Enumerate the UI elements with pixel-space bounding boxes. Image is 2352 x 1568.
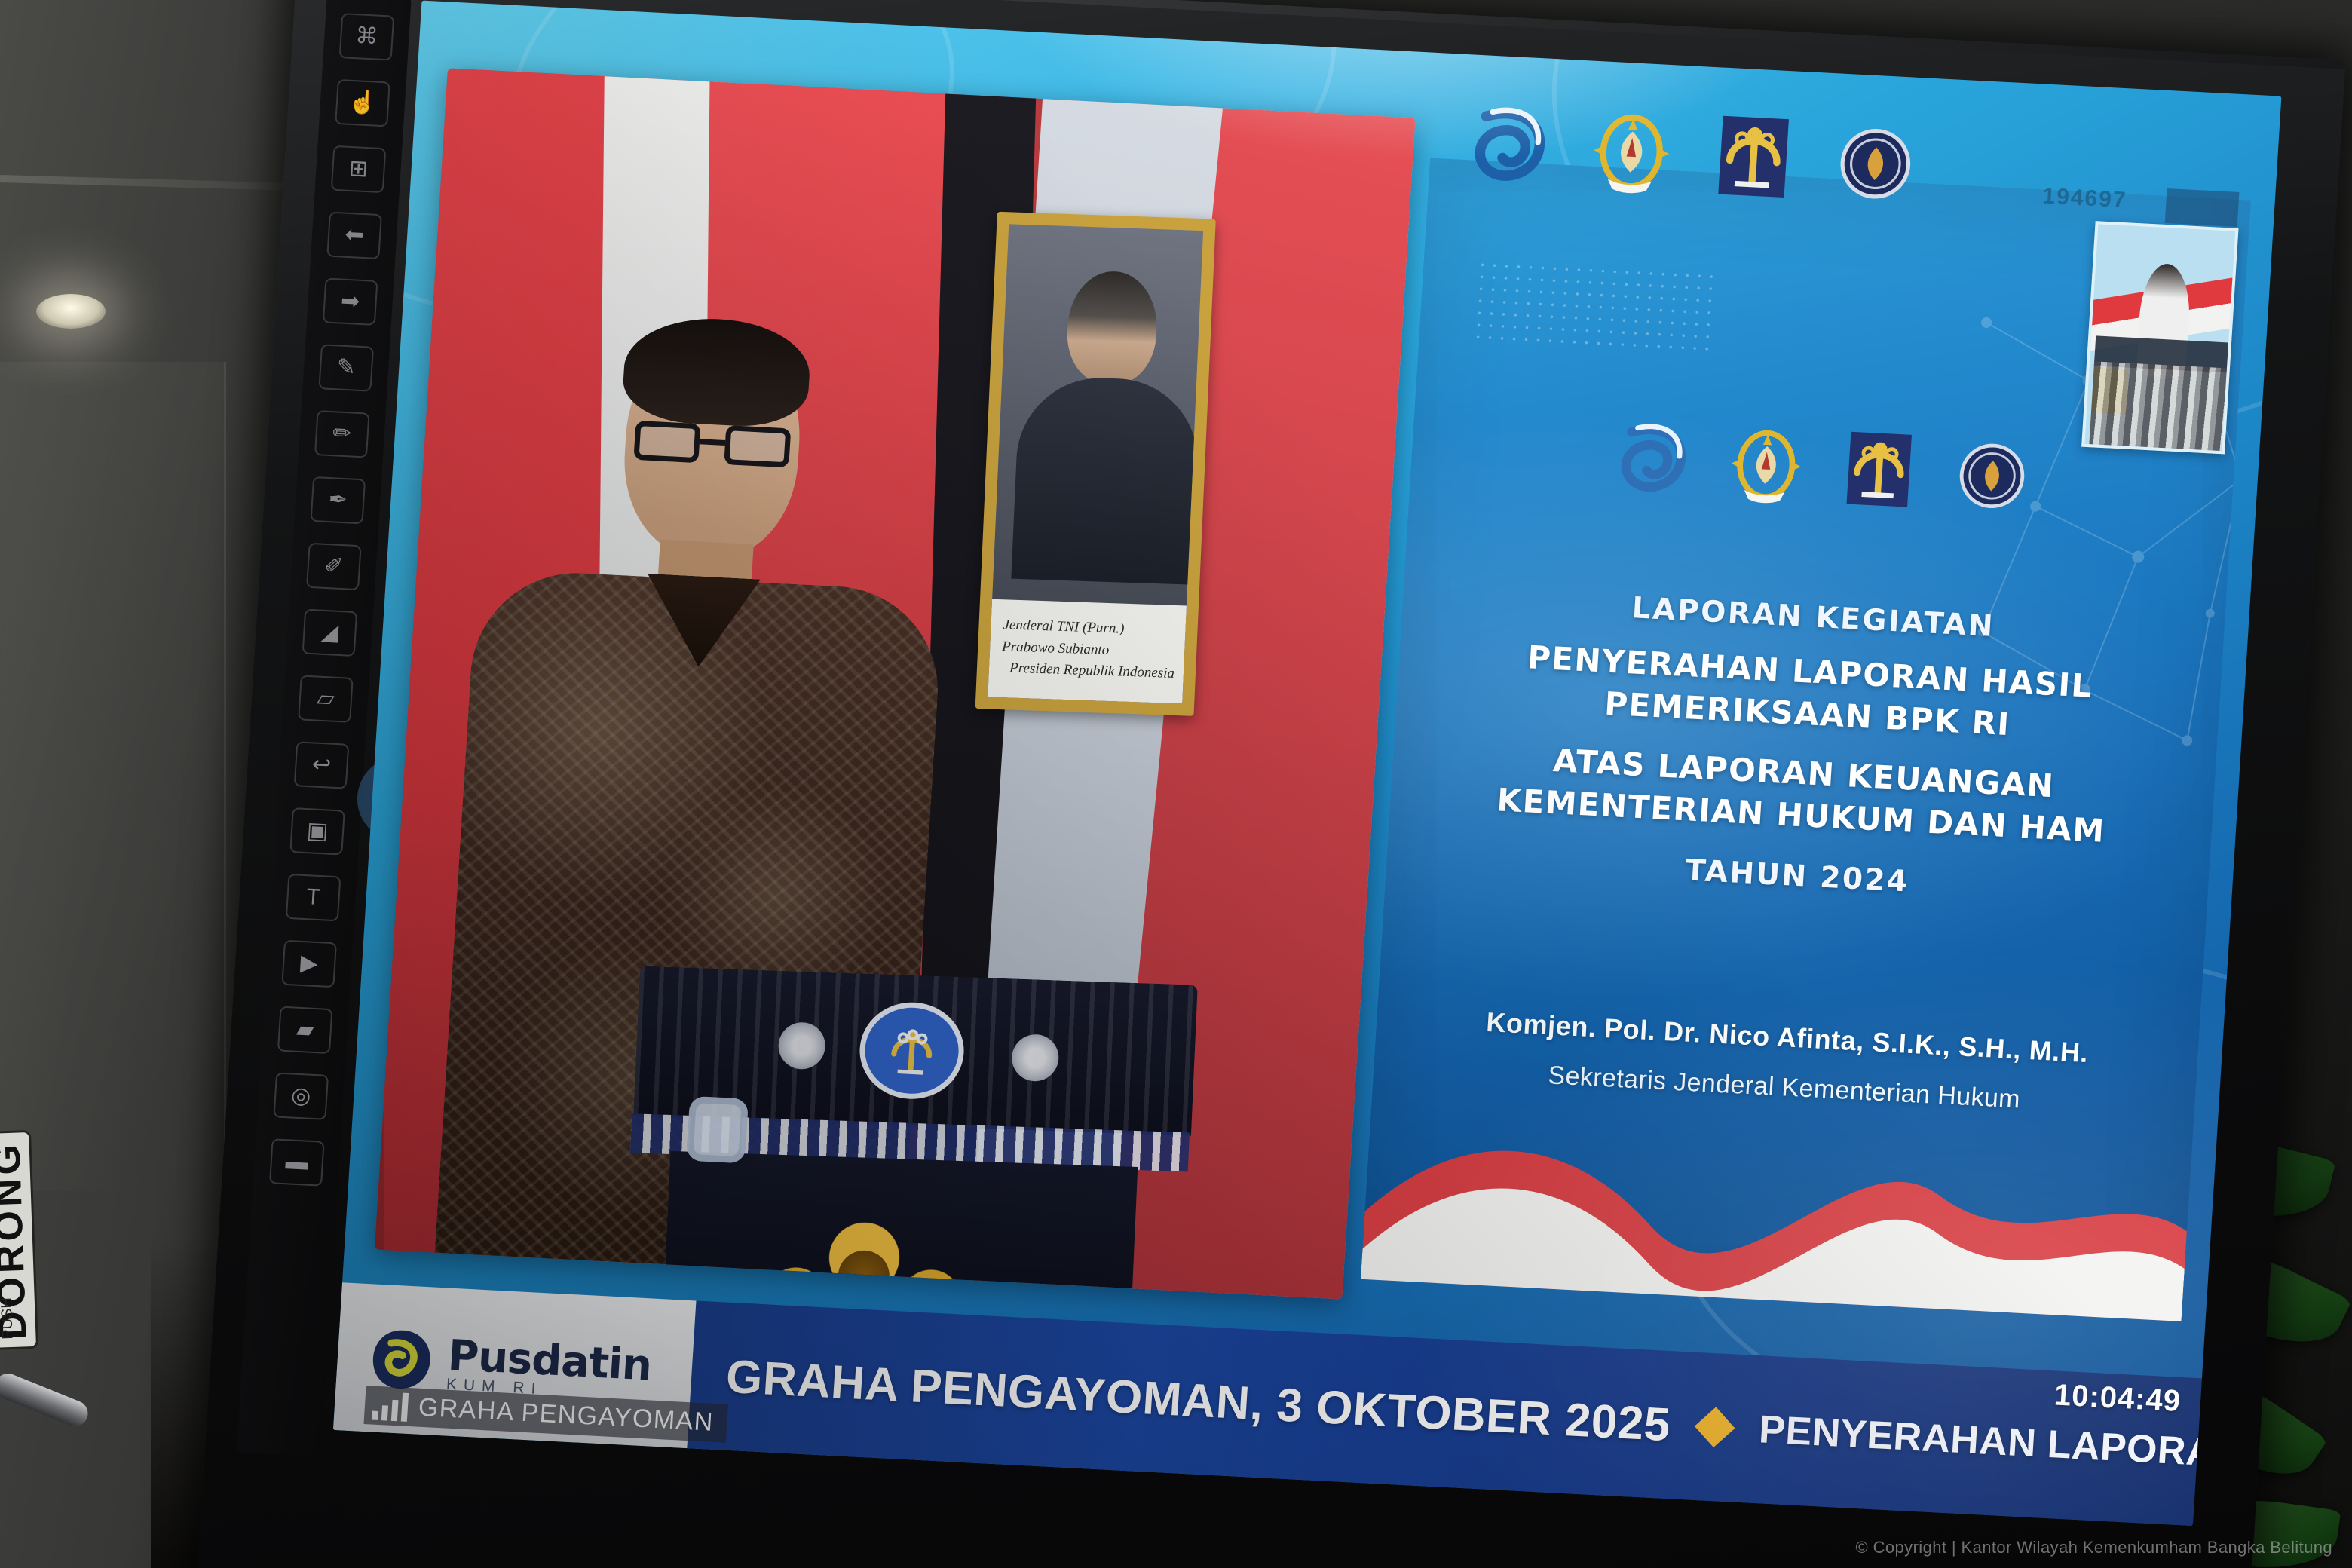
window-icon[interactable]: ▬	[269, 1138, 325, 1186]
marker-icon[interactable]: ✒	[310, 476, 366, 524]
video-feed: Jenderal TNI (Purn.) Prabowo Subianto Pr…	[375, 68, 1416, 1299]
event-place-date: GRAHA PENGAYOMAN, 3 OKTOBER 2025	[724, 1349, 1672, 1451]
institution-seal-icon	[1834, 118, 1918, 205]
video-icon[interactable]: ▶	[281, 940, 337, 988]
forward-arrow-icon[interactable]: ➡	[323, 277, 378, 325]
back-arrow-icon[interactable]: ⬅	[326, 212, 382, 259]
signal-bars-icon	[372, 1392, 409, 1422]
wall-panel	[0, 362, 226, 1191]
wave-swoosh-icon	[1615, 417, 1692, 499]
pengayoman-tree-icon	[1712, 112, 1796, 199]
portrait-caption: Jenderal TNI (Purn.) Prabowo Subianto Pr…	[988, 599, 1187, 704]
garuda-pancasila-icon	[1590, 106, 1674, 193]
pip-badge	[2165, 188, 2240, 227]
copyright-notice: © Copyright | Kantor Wilayah Kemenkumham…	[1855, 1538, 2332, 1557]
broadcast-clock: 10:04:49	[2053, 1378, 2182, 1419]
garuda-pancasila-icon	[1728, 423, 1805, 505]
pengayoman-tree-icon	[1841, 428, 1918, 510]
flag-ribbon-decoration	[1361, 1076, 2194, 1321]
pencil-icon[interactable]: ✎	[318, 344, 374, 391]
slide-title-line1: PENYERAHAN LAPORAN HASIL PEMERIKSAAN BPK…	[1426, 632, 2191, 755]
pusdatin-logo-icon	[366, 1325, 436, 1394]
door-sign-secondary: PUSH	[0, 1297, 17, 1340]
room-scene: DORONG PUSH ⌘☝⊞⬅➡✎✏✒✐◢▱↩▣T▶▰◎▬ ›	[0, 0, 2352, 1568]
president-portrait-frame: Jenderal TNI (Purn.) Prabowo Subianto Pr…	[975, 212, 1216, 716]
add-page-icon[interactable]: ⊞	[331, 145, 387, 193]
news-ticker-text: PENYERAHAN LAPORAN HASIL PEMERIKSAA	[1758, 1407, 2202, 1498]
display-television: ⌘☝⊞⬅➡✎✏✒✐◢▱↩▣T▶▰◎▬ ›	[196, 0, 2346, 1568]
pen-icon[interactable]: ✏	[314, 410, 370, 458]
picture-in-picture-thumbnail[interactable]	[2081, 221, 2238, 454]
institution-seal-icon	[1953, 434, 2030, 516]
camera-icon[interactable]: ◎	[273, 1072, 329, 1119]
portrait-caption-line1: Jenderal TNI (Purn.) Prabowo Subianto	[1002, 614, 1177, 663]
pip-identifier: 194697	[2041, 184, 2127, 214]
slide-title-block: LAPORAN KEGIATAN PENYERAHAN LAPORAN HASI…	[1386, 580, 2225, 914]
diamond-separator-icon	[1695, 1407, 1735, 1447]
dot-pattern-decoration	[1472, 259, 1717, 354]
folder-icon[interactable]: ▰	[277, 1006, 333, 1054]
whiteboard-icon[interactable]: ▣	[289, 807, 345, 855]
slide-title-line2: ATAS LAPORAN KEUANGAN KEMENTERIAN HUKUM …	[1419, 733, 2185, 856]
podium-gold-carving	[741, 1190, 987, 1299]
text-tool-icon[interactable]: T	[286, 874, 341, 921]
brush-icon[interactable]: ✐	[306, 543, 362, 590]
undo-icon[interactable]: ↩	[294, 741, 350, 789]
eyeglasses-icon	[633, 421, 791, 469]
hand-pointer-icon[interactable]: ☝	[335, 79, 390, 127]
eraser-icon[interactable]: ▱	[298, 675, 354, 722]
highlighter-icon[interactable]: ◢	[302, 609, 358, 657]
mouse-icon[interactable]: ⌘	[339, 13, 395, 60]
tv-screen: Jenderal TNI (Purn.) Prabowo Subianto Pr…	[333, 1, 2282, 1526]
wave-swoosh-icon	[1468, 100, 1551, 186]
ceiling-light	[36, 294, 106, 329]
recording-stop-button[interactable]	[686, 1096, 749, 1164]
